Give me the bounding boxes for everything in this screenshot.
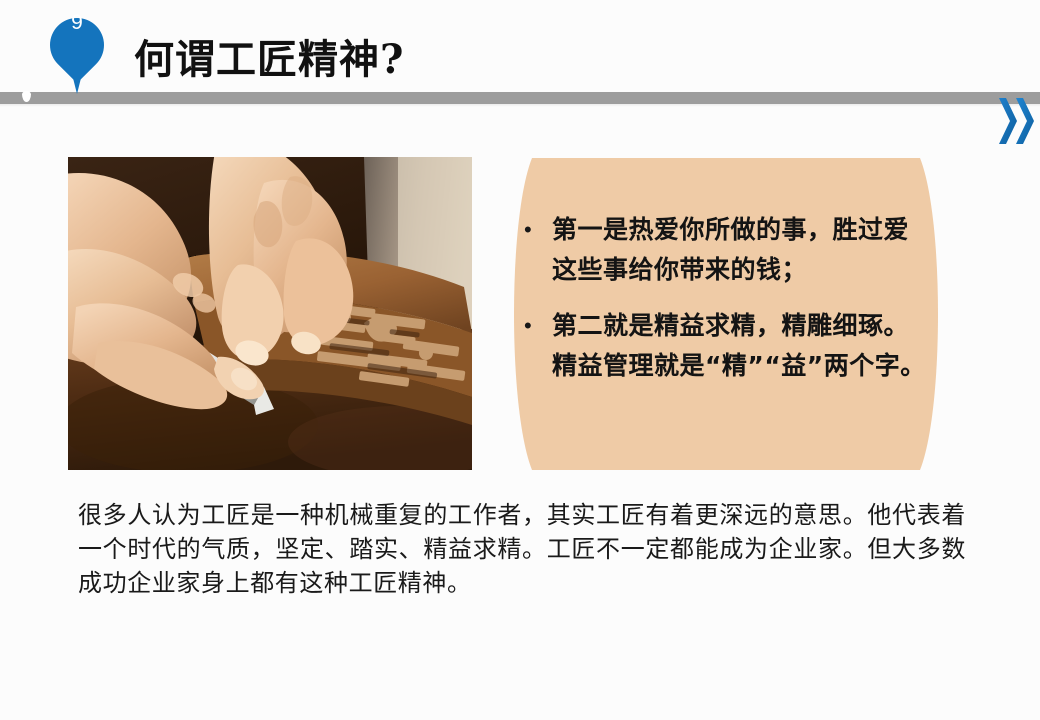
bullet-marker: •: [520, 210, 552, 250]
list-item: • 第一是热爱你所做的事，胜过爱这些事给你带来的钱；: [520, 210, 930, 290]
photo-illustration: [68, 157, 472, 470]
list-item: • 第二就是精益求精，精雕细琢。精益管理就是“精”“益”两个字。: [520, 306, 930, 386]
header-divider-bar: [0, 92, 1040, 104]
bullet-marker: •: [520, 306, 552, 346]
bullet-text: 第一是热爱你所做的事，胜过爱这些事给你带来的钱；: [552, 210, 930, 290]
craftsman-carving-photo: [68, 157, 472, 470]
key-points-callout: • 第一是热爱你所做的事，胜过爱这些事给你带来的钱； • 第二就是精益求精，精雕…: [492, 158, 960, 470]
callout-bullet-list: • 第一是热爱你所做的事，胜过爱这些事给你带来的钱； • 第二就是精益求精，精雕…: [520, 210, 930, 402]
header-divider-shadow: [0, 104, 1040, 107]
bullet-text: 第二就是精益求精，精雕细琢。精益管理就是“精”“益”两个字。: [552, 306, 930, 386]
chevron-right-icon-2: [1015, 96, 1035, 146]
page-number: 9: [50, 11, 104, 35]
slide-canvas: 9 何谓工匠精神?: [0, 0, 1040, 720]
body-paragraph: 很多人认为工匠是一种机械重复的工作者，其实工匠有着更深远的意思。他代表着一个时代…: [78, 498, 966, 600]
double-chevron-right-icon: [998, 96, 1040, 148]
page-title: 何谓工匠精神?: [134, 27, 404, 85]
